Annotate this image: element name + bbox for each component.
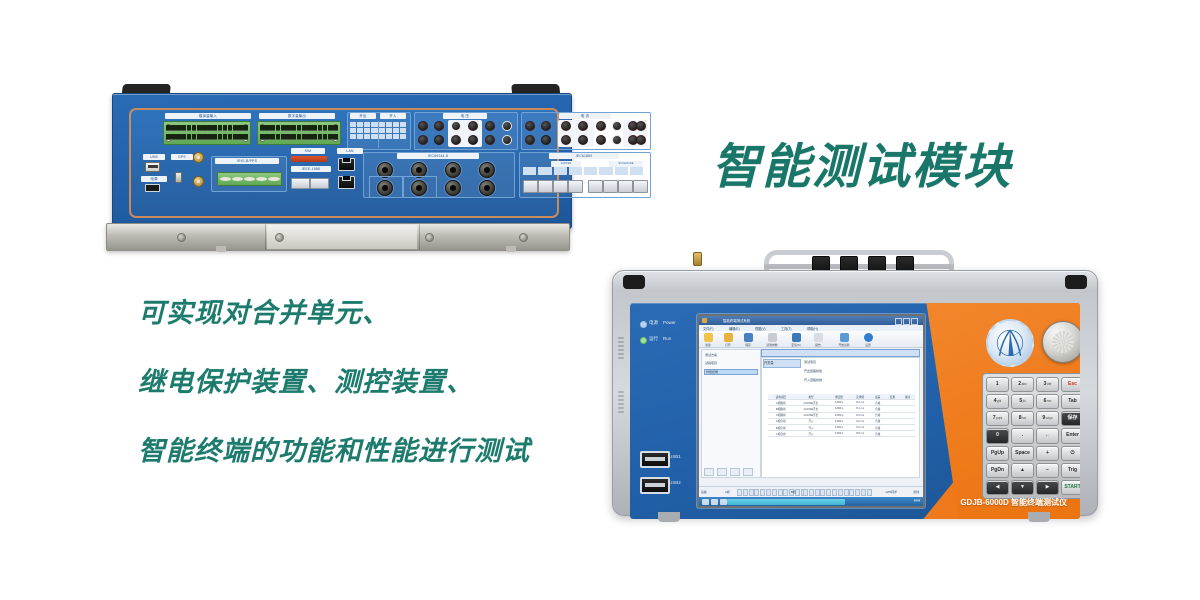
lan-port-1[interactable] xyxy=(338,158,355,171)
system-tray[interactable]: ▮ ▮ ▮ xyxy=(914,499,920,502)
sfp-port-1588-b[interactable] xyxy=(310,178,329,189)
window-titlebar: 智能终端测试系统 xyxy=(699,316,923,325)
usb-port-2[interactable] xyxy=(640,477,670,494)
rack-module-panel: 模拟量输入 数字量输出 xyxy=(129,108,559,218)
toolbar-new[interactable]: 新建 xyxy=(701,333,715,347)
key-enter[interactable]: Enter xyxy=(1061,428,1080,443)
address-bar[interactable] xyxy=(761,349,920,357)
tester-front-panel: 电源 Power 运行 Run USB1 USB2 xyxy=(630,303,1080,519)
power-switch[interactable] xyxy=(175,172,182,183)
iec61850-port-3[interactable] xyxy=(553,180,568,193)
optical-port-rx2[interactable] xyxy=(479,162,495,178)
key-0[interactable]: 0 xyxy=(986,428,1009,443)
brand-logo-icon xyxy=(986,319,1034,367)
results-table: 试验项目 类型 整定值 实测值 误差 结果 备注 xyxy=(768,394,915,437)
label-voltage-output: 电 压 xyxy=(443,113,487,119)
model-label: GDJB-6000D 智能终端测试仪 xyxy=(960,497,1067,508)
tester-case: 电源 Power 运行 Run USB1 USB2 xyxy=(612,270,1098,516)
case-foot-right xyxy=(1028,512,1050,522)
iec61850-port-2[interactable] xyxy=(538,180,553,193)
toolbar-open[interactable]: 打开 xyxy=(721,333,735,347)
maximize-icon[interactable] xyxy=(903,318,910,325)
label-ieee1588: IEEE-1588 xyxy=(291,166,331,172)
antenna-sma-bottom[interactable] xyxy=(193,176,204,187)
run-led xyxy=(640,337,647,344)
sfp-port-1588[interactable] xyxy=(291,178,310,189)
section-row-2[interactable]: 开入回路校验 xyxy=(804,378,822,382)
terminal-block-analog-in[interactable] xyxy=(163,121,251,145)
iec61850-port-1[interactable] xyxy=(523,180,538,193)
poster-canvas: 智能测试模块 可实现对合并单元、 继电保护装置、测控装置、 智能终端的功能和性能… xyxy=(0,0,1200,600)
page-title: 智能测试模块 xyxy=(712,127,1012,197)
terminal-block-analog-out[interactable] xyxy=(257,121,341,145)
key-pgup[interactable]: PgUp xyxy=(986,446,1009,461)
toolbar-report[interactable]: 报告 xyxy=(811,333,825,347)
statusbar: 就绪 A组 B组 GPS同步 离线 xyxy=(699,486,923,497)
key-power-icon[interactable]: ⏻ xyxy=(1061,446,1080,461)
taskbar[interactable]: ▮ ▮ ▮ xyxy=(699,497,923,506)
optical-port-tx2[interactable] xyxy=(445,162,461,178)
rack-mounting-base xyxy=(106,223,570,251)
key-right-arrow[interactable]: ▶ xyxy=(1036,480,1059,495)
bottom-button-4[interactable] xyxy=(743,468,753,476)
case-foot-left xyxy=(658,512,680,522)
status-gps: GPS同步 xyxy=(885,490,897,494)
bottom-buttons[interactable] xyxy=(704,468,753,476)
label-irig: IRIG-B/PPS xyxy=(215,158,279,164)
section-row-1[interactable]: 开出回路校验 xyxy=(804,369,822,373)
power-led xyxy=(640,321,647,328)
toolbar-config[interactable]: 设置 xyxy=(861,333,875,347)
label-analog-out: 数字量输出 xyxy=(259,113,335,119)
iec61850-port-labels xyxy=(523,167,643,175)
key-space[interactable]: Space xyxy=(1011,446,1034,461)
key-esc[interactable]: Esc xyxy=(1061,377,1080,392)
lan-port-2[interactable] xyxy=(338,176,355,189)
key-7[interactable]: 7pqrs xyxy=(986,411,1009,426)
key-9[interactable]: 9wxyz xyxy=(1036,411,1059,426)
antenna-connector[interactable] xyxy=(693,252,702,266)
label-power: 电源 xyxy=(141,176,167,182)
description-block: 可实现对合并单元、 继电保护装置、测控装置、 智能终端的功能和性能进行测试 xyxy=(138,300,608,465)
usb-port-2-label: USB2 xyxy=(669,480,681,485)
usb-port-1-label: USB1 xyxy=(669,454,681,459)
status-group-b: B组 xyxy=(791,490,796,494)
bottom-button-1[interactable] xyxy=(704,468,714,476)
label-iec60044: IEC60044-8 xyxy=(397,153,479,159)
tree-item-plan[interactable]: 测试方案 xyxy=(705,353,717,357)
label-digital-in: 开入 xyxy=(380,113,406,119)
rack-module-body: 模拟量输入 数字量输出 xyxy=(112,93,572,229)
toolbar-start[interactable]: 开始试验 xyxy=(837,333,851,347)
key-trig[interactable]: Trig xyxy=(1061,463,1080,478)
start-button-icon[interactable] xyxy=(702,499,709,505)
key-6[interactable]: 6mn xyxy=(1036,394,1059,409)
status-group-a: A组 xyxy=(725,490,730,494)
description-line-3: 智能终端的功能和性能进行测试 xyxy=(138,438,608,465)
content-tab-title: 测试项目 xyxy=(804,360,816,364)
key-start[interactable]: START xyxy=(1061,480,1080,495)
toolbar[interactable]: 新建 打开 保存 试验参数 定值(S) 报告 开始试验 设置 xyxy=(699,331,923,348)
toolbar-settings[interactable]: 定值(S) xyxy=(789,333,803,347)
close-icon[interactable] xyxy=(911,318,918,325)
bottom-button-2[interactable] xyxy=(717,468,727,476)
usb-port-1[interactable] xyxy=(640,451,670,468)
usb-port[interactable] xyxy=(145,162,160,172)
power-led-label: 电源 xyxy=(649,320,658,326)
label-lan: LAN xyxy=(337,148,363,154)
power-led-sub: Power xyxy=(663,320,676,325)
key-save[interactable]: 保存 xyxy=(1061,411,1080,426)
run-led-label: 运行 xyxy=(649,336,658,342)
app-icon xyxy=(702,318,707,323)
irig-terminal[interactable] xyxy=(217,172,282,186)
optical-port-tx4[interactable] xyxy=(445,180,461,196)
content-tab[interactable]: 开关量 xyxy=(763,359,801,368)
iec61850-port-6[interactable] xyxy=(603,180,618,193)
key-3[interactable]: 3def xyxy=(1036,377,1059,392)
content-pane: 开关量 测试项目 开出回路校验 开入回路校验 试验项目 类型 xyxy=(761,357,920,478)
status-ready: 就绪 xyxy=(701,490,707,494)
power-connector[interactable] xyxy=(145,184,160,192)
key-5[interactable]: 5jkl xyxy=(1011,394,1034,409)
key-plus[interactable]: + xyxy=(1036,446,1059,461)
iec61850-port-7[interactable] xyxy=(618,180,633,193)
label-gps: GPS xyxy=(171,154,193,160)
rack-module-photo: 模拟量输入 数字量输出 xyxy=(106,84,576,266)
description-line-2: 继电保护装置、测控装置、 xyxy=(138,369,608,396)
sim-slot[interactable] xyxy=(291,156,327,162)
key-left-arrow[interactable]: ◀ xyxy=(986,480,1009,495)
window-title: 智能终端测试系统 xyxy=(723,318,750,323)
taskbar-window-button[interactable] xyxy=(727,499,845,505)
key-4[interactable]: 4ghi xyxy=(986,394,1009,409)
optical-port-rx4[interactable] xyxy=(479,180,495,196)
iec61850-port-4[interactable] xyxy=(568,180,583,193)
key-down-arrow[interactable]: ▼ xyxy=(1011,480,1034,495)
portable-tester-photo: 电源 Power 运行 Run USB1 USB2 xyxy=(612,252,1096,530)
iec61850-port-5[interactable] xyxy=(588,180,603,193)
minimize-icon[interactable] xyxy=(895,318,902,325)
taskbar-icon-1[interactable] xyxy=(711,499,718,505)
label-sim: SIM xyxy=(291,148,325,154)
label-iec61850: IEC61850 xyxy=(549,153,619,159)
taskbar-icon-2[interactable] xyxy=(720,499,727,505)
key-minus[interactable]: − xyxy=(1036,463,1059,478)
key-pgdn[interactable]: PgDn xyxy=(986,463,1009,478)
logo-mark-icon xyxy=(995,328,1025,358)
label-analog-in: 模拟量输入 xyxy=(165,113,251,119)
tree-item-terminal[interactable]: 智能终端 xyxy=(704,369,758,375)
label-digital-out: 开出 xyxy=(350,113,376,119)
tree-item-project[interactable]: 试验项目 xyxy=(705,361,717,365)
bottom-button-3[interactable] xyxy=(730,468,740,476)
navigation-tree[interactable]: 测试方案 试验项目 智能终端 xyxy=(701,349,761,478)
key-1[interactable]: 1 xyxy=(986,377,1009,392)
keypad[interactable]: 1 2abc 3def Esc 4ghi 5jkl 6mn Tab 7pqrs … xyxy=(982,373,1080,499)
software-window: 智能终端测试系统 文件(F) 编辑(E) 视图(V) 工具(T) 帮助(H) xyxy=(699,316,923,506)
toolbar-params[interactable]: 试验参数 xyxy=(765,333,779,347)
key-up-arrow[interactable]: ▲ xyxy=(1011,463,1034,478)
description-line-1: 可实现对合并单元、 xyxy=(138,300,608,327)
key-tab[interactable]: Tab xyxy=(1061,394,1080,409)
lcd-screen[interactable]: 智能终端测试系统 文件(F) 编辑(E) 视图(V) 工具(T) 帮助(H) xyxy=(697,314,925,508)
label-usb: USB xyxy=(143,154,165,160)
iec61850-port-8[interactable] xyxy=(633,180,648,193)
key-backspace[interactable]: ← xyxy=(1036,428,1059,443)
run-led-sub: Run xyxy=(663,336,671,341)
status-online: 离线 xyxy=(913,490,919,494)
rotary-knob[interactable] xyxy=(1042,321,1080,363)
antenna-sma-top[interactable] xyxy=(193,152,204,163)
key-dot[interactable]: . xyxy=(1011,428,1034,443)
table-row[interactable]: C相合闸 开入 0.000 s 8.8 ms 合格 xyxy=(768,431,915,437)
label-current-output: 电 流 xyxy=(559,113,611,119)
key-2[interactable]: 2abc xyxy=(1011,377,1034,392)
toolbar-save[interactable]: 保存 xyxy=(741,333,755,347)
key-8[interactable]: 8tuv xyxy=(1011,411,1034,426)
